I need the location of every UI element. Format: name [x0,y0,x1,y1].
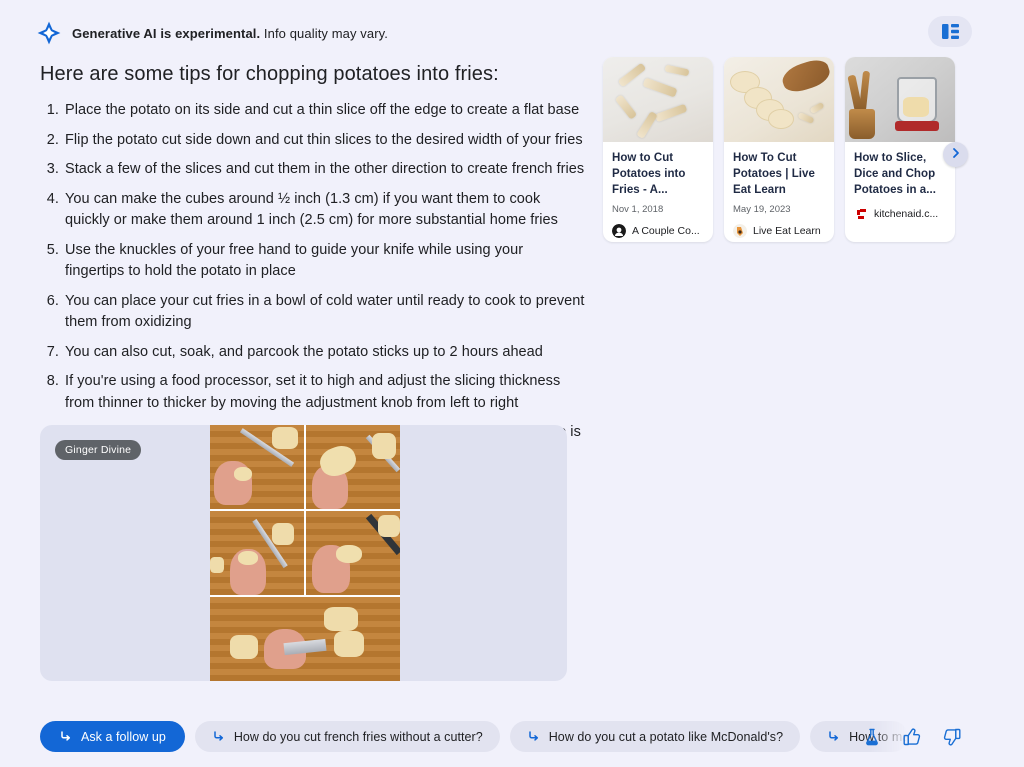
source-thumbnail-fries [603,57,713,142]
source-card[interactable]: How to Cut Potatoes into Fries - A... No… [603,57,713,242]
kitchenaid-favicon [854,207,868,221]
source-thumbnail-processor [845,57,955,142]
media-panel [306,511,400,595]
reply-arrow-icon [59,730,72,743]
source-thumbnail-slices [724,57,834,142]
media-image-grid [210,425,400,681]
chevron-right-icon [950,147,962,162]
tip-number: 8. [40,371,59,393]
followup-suggestion-chip[interactable]: How do you cut french fries without a cu… [195,721,500,752]
sparkle-icon [36,20,62,46]
source-card[interactable]: How to Slice, Dice and Chop Potatoes in … [845,57,955,242]
layout-view-icon [942,24,959,39]
tip-number: 6. [40,291,59,313]
labs-flask-icon[interactable] [862,727,882,747]
tip-list-item: 1.Place the potato on its side and cut a… [40,100,585,122]
source-card[interactable]: How To Cut Potatoes | Live Eat Learn May… [724,57,834,242]
tip-list-item: 2.Flip the potato cut side down and cut … [40,130,585,152]
tip-text: You can place your cut fries in a bowl o… [65,293,584,331]
media-panel [210,511,304,595]
reply-arrow-icon [212,730,225,743]
media-panel [210,597,400,681]
source-card-date: May 19, 2023 [733,204,825,215]
tip-list-item: 6.You can place your cut fries in a bowl… [40,291,585,334]
reply-arrow-icon [827,730,840,743]
tip-text: Use the knuckles of your free hand to gu… [65,242,523,280]
tip-text: Stack a few of the slices and cut them i… [65,161,584,177]
tip-number: 7. [40,342,59,364]
tip-text: You can also cut, soak, and parcook the … [65,344,543,360]
followup-suggestion-chip[interactable]: How do you cut a potato like McDonald's? [510,721,800,752]
tip-number: 5. [40,240,59,262]
source-card-attribution: Live Eat Learn [733,224,825,238]
tip-list-item: 7.You can also cut, soak, and parcook th… [40,342,585,364]
thumbs-up-icon[interactable] [902,727,922,747]
ai-overview-panel: Generative AI is experimental. Info qual… [0,0,1024,767]
tip-text: If you're using a food processor, set it… [65,373,560,411]
tip-number: 3. [40,159,59,181]
media-panel [210,425,304,509]
tip-list-item: 4.You can make the cubes around ½ inch (… [40,189,585,232]
chip-label: Ask a follow up [81,730,166,744]
ask-follow-up-button[interactable]: Ask a follow up [40,721,185,752]
source-card-attribution: kitchenaid.c... [854,207,946,221]
source-card-title: How to Slice, Dice and Chop Potatoes in … [854,150,946,198]
tip-list-item: 3.Stack a few of the slices and cut them… [40,159,585,181]
source-card-site: kitchenaid.c... [874,208,938,220]
source-card-title: How To Cut Potatoes | Live Eat Learn [733,150,825,198]
source-card-attribution: A Couple Co... [612,224,704,238]
source-card-date: Nov 1, 2018 [612,204,704,215]
bottom-action-bar: Ask a follow upHow do you cut french fri… [0,705,1024,767]
tip-number: 2. [40,130,59,152]
chip-label: How do you cut french fries without a cu… [234,730,483,744]
live-eat-learn-favicon [733,224,747,238]
tip-list-item: 8.If you're using a food processor, set … [40,371,585,414]
tip-number: 1. [40,100,59,122]
source-card-site: Live Eat Learn [753,225,821,237]
followup-chip-row: Ask a follow upHow do you cut french fri… [40,721,908,752]
source-cards-carousel: How to Cut Potatoes into Fries - A... No… [603,57,1003,247]
carousel-next-button[interactable] [943,142,968,167]
disclaimer-bold: Generative AI is experimental. [72,26,260,41]
tip-text: Flip the potato cut side down and cut th… [65,132,583,148]
tip-list-item: 5.Use the knuckles of your free hand to … [40,240,585,283]
disclaimer-text: Generative AI is experimental. Info qual… [72,26,388,41]
page-title: Here are some tips for chopping potatoes… [40,60,600,88]
disclaimer-light: Info quality may vary. [260,26,388,41]
tip-number: 4. [40,189,59,211]
tip-text: Place the potato on its side and cut a t… [65,102,579,118]
feedback-row [862,727,962,747]
media-preview-block[interactable]: Ginger Divine [40,425,567,681]
thumbs-down-icon[interactable] [942,727,962,747]
media-source-badge: Ginger Divine [55,440,141,460]
a-couple-cooks-favicon [612,224,626,238]
tips-ordered-list: 1.Place the potato on its side and cut a… [40,100,585,473]
layout-view-toggle-button[interactable] [928,16,972,47]
source-card-site: A Couple Co... [632,225,700,237]
tip-text: You can make the cubes around ½ inch (1.… [65,191,558,229]
reply-arrow-icon [527,730,540,743]
generative-ai-disclaimer: Generative AI is experimental. Info qual… [36,20,388,46]
chip-label: How do you cut a potato like McDonald's? [549,730,783,744]
source-card-title: How to Cut Potatoes into Fries - A... [612,150,704,198]
media-panel [306,425,400,509]
